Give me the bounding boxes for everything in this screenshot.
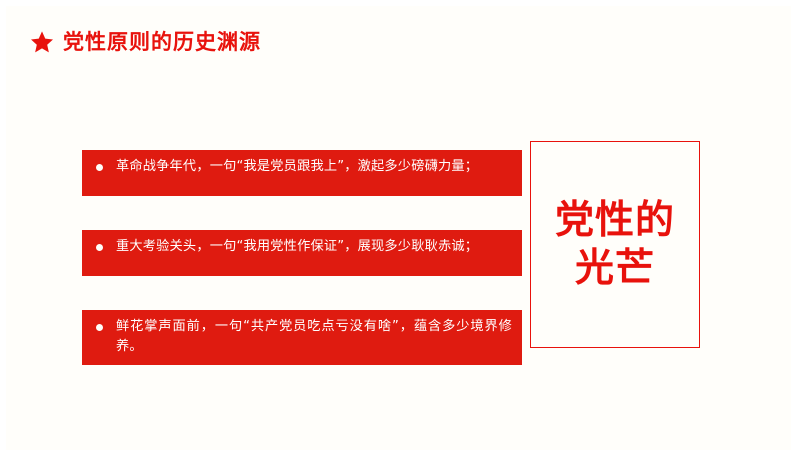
highlight-panel-text: 党性的 光芒 [555,197,675,292]
bullet-text-3: 鲜花掌声面前，一句“共产党员吃点亏没有啥”，蕴含多少境界修养。 [116,317,512,358]
page-title: 党性原则的历史渊源 [63,32,261,53]
star-icon [30,30,54,54]
highlight-panel: 党性的 光芒 [530,141,700,348]
bullet-dot-icon [96,164,103,171]
bullet-bar-1: 革命战争年代，一句“我是党员跟我上”，激起多少磅礴力量； [82,150,522,196]
slide-frame: 党性原则的历史渊源 革命战争年代，一句“我是党员跟我上”，激起多少磅礴力量； 重… [0,0,798,457]
bullet-text-2: 重大考验关头，一句“我用党性作保证”，展现多少耿耿赤诚； [116,237,512,257]
slide-title-row: 党性原则的历史渊源 [30,30,261,54]
slide-canvas: 党性原则的历史渊源 革命战争年代，一句“我是党员跟我上”，激起多少磅礴力量； 重… [6,6,791,450]
bullet-text-1: 革命战争年代，一句“我是党员跟我上”，激起多少磅礴力量； [116,157,512,177]
bullet-bar-2: 重大考验关头，一句“我用党性作保证”，展现多少耿耿赤诚； [82,230,522,276]
bullet-dot-icon [96,244,103,251]
bullet-bar-list: 革命战争年代，一句“我是党员跟我上”，激起多少磅礴力量； 重大考验关头，一句“我… [82,150,522,365]
bullet-bar-3: 鲜花掌声面前，一句“共产党员吃点亏没有啥”，蕴含多少境界修养。 [82,310,522,365]
bullet-dot-icon [96,324,103,331]
